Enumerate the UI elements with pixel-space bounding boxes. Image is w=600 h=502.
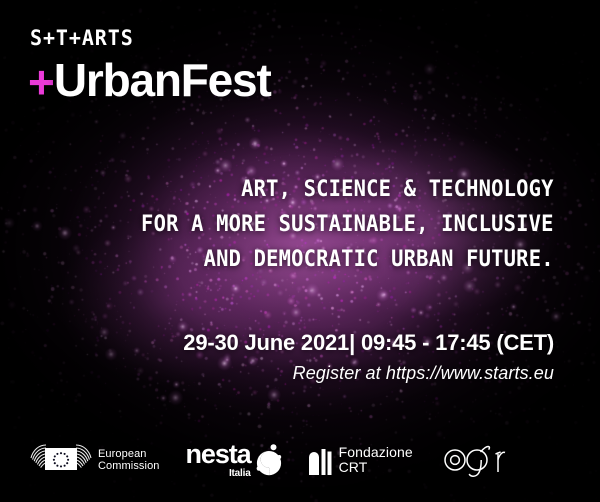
eu-flag-icon (30, 444, 92, 476)
ogr-outline-icon (443, 440, 509, 480)
event-poster: S+T+ARTS +UrbanFest ART, SCIENCE & TECHN… (0, 0, 600, 502)
ec-wave-left-icon (30, 444, 46, 474)
logo-ogr (443, 440, 509, 480)
brand-prefix-title: S+T+ARTS (30, 28, 134, 49)
nesta-label: nesta Italia (186, 442, 251, 479)
crt-label-line-2: CRT (339, 460, 413, 475)
ec-label-line-1: European (98, 448, 160, 461)
ec-wave-right-icon (76, 444, 92, 474)
eu-stars-icon (45, 448, 77, 470)
event-title: +UrbanFest (28, 57, 271, 105)
plus-symbol: + (28, 56, 54, 108)
event-title-text: UrbanFest (54, 54, 271, 106)
event-date-time: 29-30 June 2021| 09:45 - 17:45 (CET) (183, 330, 554, 356)
logo-european-commission: European Commission (30, 444, 160, 476)
registration-link[interactable]: Register at https://www.starts.eu (293, 363, 554, 384)
nesta-circle-icon (256, 444, 282, 478)
tagline-line-3: AND DEMOCRATIC URBAN FUTURE. (141, 242, 554, 277)
logo-fondazione-crt: Fondazione CRT (308, 445, 413, 475)
nesta-wordmark: nesta (186, 442, 251, 467)
european-commission-label: European Commission (98, 448, 160, 473)
sponsor-logo-bar: European Commission nesta Italia (30, 440, 509, 480)
tagline: ART, SCIENCE & TECHNOLOGY FOR A MORE SUS… (141, 172, 554, 277)
nesta-sublabel: Italia (229, 468, 251, 479)
tagline-line-2: FOR A MORE SUSTAINABLE, INCLUSIVE (141, 207, 554, 242)
tagline-line-1: ART, SCIENCE & TECHNOLOGY (141, 172, 554, 207)
crt-bars-icon (308, 445, 333, 475)
logo-nesta-italia: nesta Italia (186, 442, 282, 479)
crt-label-line-1: Fondazione (339, 445, 413, 460)
fondazione-crt-label: Fondazione CRT (339, 445, 413, 475)
ec-label-line-2: Commission (98, 460, 160, 473)
